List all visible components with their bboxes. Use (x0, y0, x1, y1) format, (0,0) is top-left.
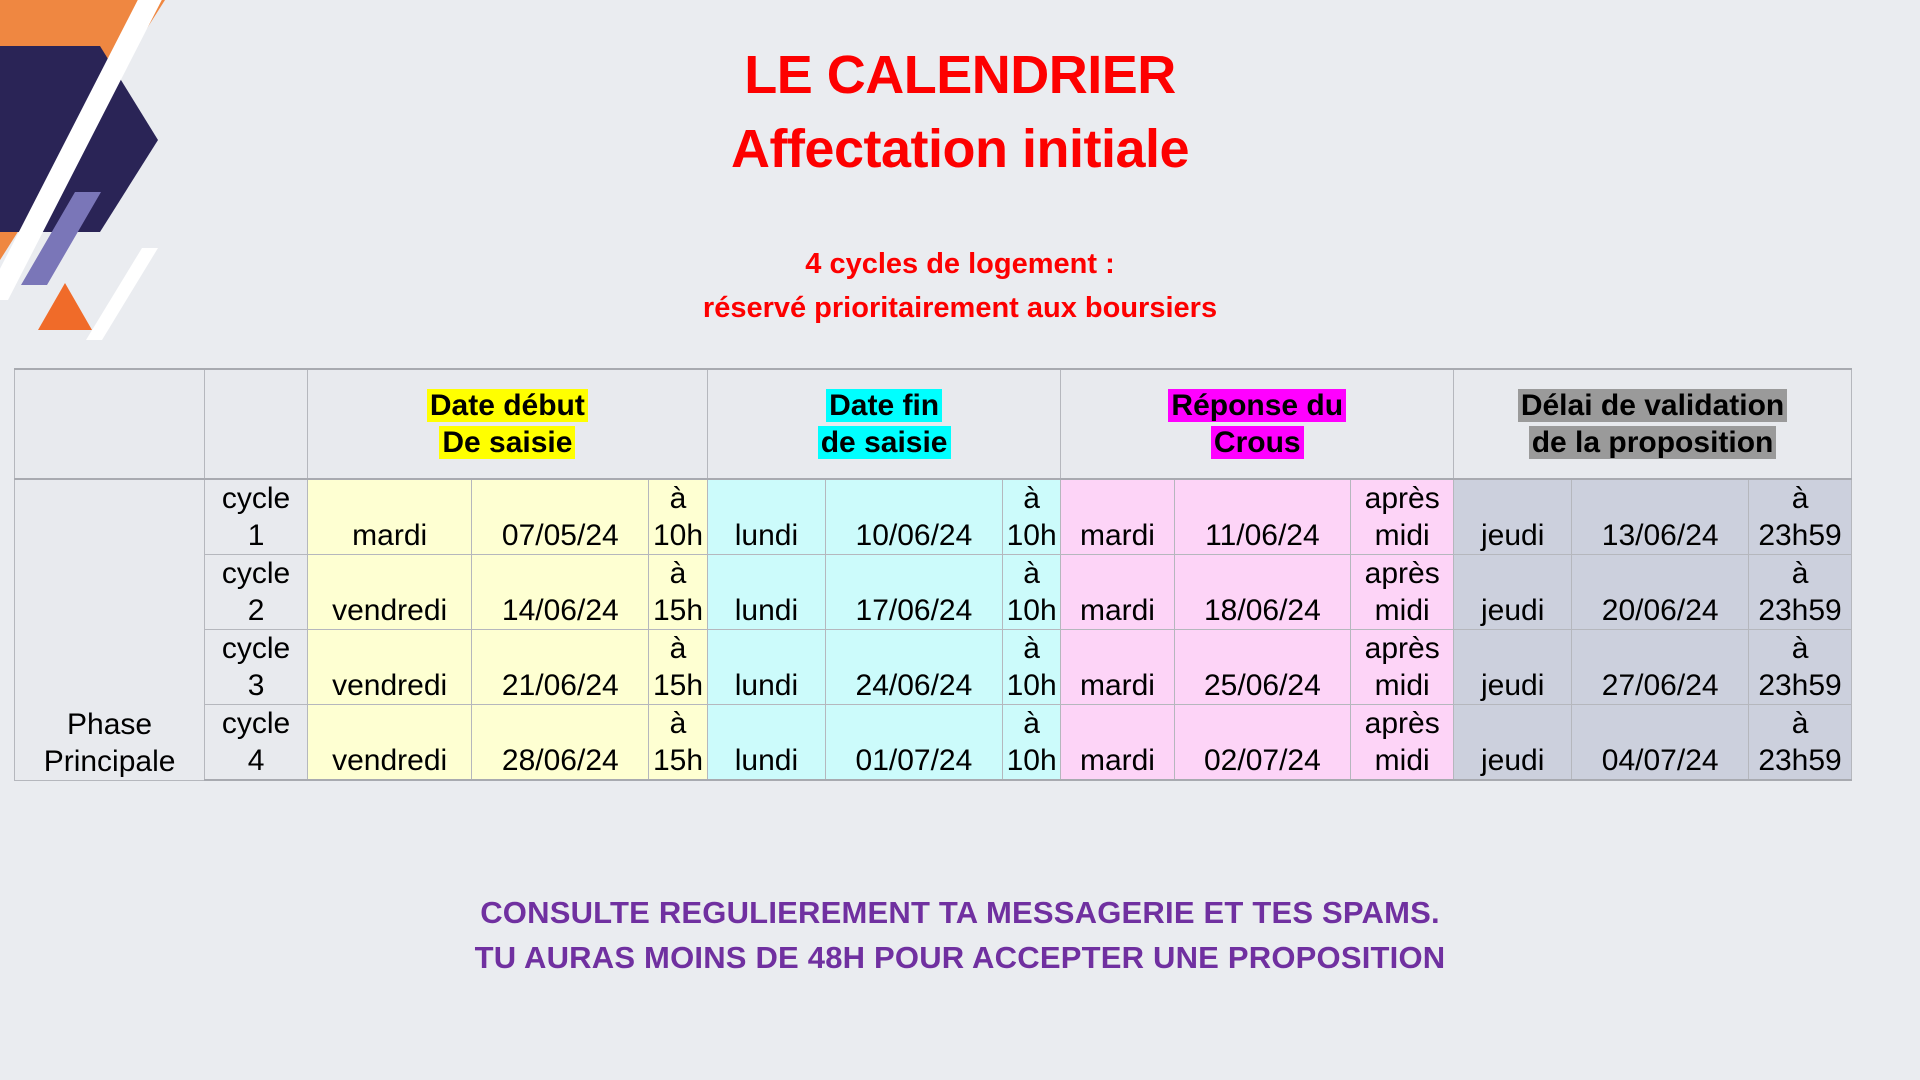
debut-date-3: 21/06/24 (472, 630, 649, 705)
header-cell-date-fin: Date fin de saisie (707, 369, 1061, 479)
fin-time-prefix-2: à (1003, 555, 1061, 592)
table-header-row: Date début De saisie Date fin de saisie … (15, 369, 1852, 479)
title-line-2: Affectation initiale (0, 112, 1920, 186)
delai-day-4: jeudi (1454, 705, 1572, 781)
header-date-fin-line1: Date fin (826, 389, 942, 422)
fin-date-1: 10/06/24 (826, 479, 1003, 555)
debut-time-prefix-3: à (649, 630, 707, 667)
phase-label-line1: Phase (15, 706, 204, 743)
fin-time-prefix-3: à (1003, 630, 1061, 667)
cycle-word-3: cycle (205, 630, 307, 667)
fin-time-value-4: 10h (1003, 742, 1061, 779)
crous-date-3: 25/06/24 (1174, 630, 1351, 705)
debut-time-prefix-1: à (649, 480, 707, 517)
header-cell-blank-1 (15, 369, 205, 479)
cycle-label-1: cycle 1 (205, 479, 308, 555)
header-date-debut-line2: De saisie (439, 426, 575, 459)
header-delai-line2: de la proposition (1529, 426, 1777, 459)
debut-time-value-3: 15h (649, 667, 707, 704)
debut-day-3: vendredi (307, 630, 471, 705)
header-cell-delai-validation: Délai de validation de la proposition (1454, 369, 1852, 479)
crous-time-value-1: midi (1351, 517, 1453, 554)
header-reponse-crous-line1: Réponse du (1168, 389, 1346, 422)
delai-date-2: 20/06/24 (1572, 555, 1749, 630)
crous-date-4: 02/07/24 (1174, 705, 1351, 781)
table-row: cycle 3 vendredi 21/06/24 à 15h lundi 24… (15, 630, 1852, 705)
cycle-word-4: cycle (205, 705, 307, 742)
delai-time-4: à 23h59 (1749, 705, 1852, 781)
fin-time-prefix-4: à (1003, 705, 1061, 742)
delai-time-value-4: 23h59 (1749, 742, 1851, 779)
cycle-number-3: 3 (205, 667, 307, 704)
delai-time-value-3: 23h59 (1749, 667, 1851, 704)
crous-time-value-3: midi (1351, 667, 1453, 704)
cycle-word-1: cycle (205, 480, 307, 517)
debut-day-2: vendredi (307, 555, 471, 630)
table-row: Phase Principale cycle 1 mardi 07/05/24 … (15, 479, 1852, 555)
crous-day-3: mardi (1061, 630, 1174, 705)
debut-date-4: 28/06/24 (472, 705, 649, 781)
header-reponse-crous-line2: Crous (1211, 426, 1304, 459)
delai-time-value-1: 23h59 (1749, 517, 1851, 554)
fin-time-prefix-1: à (1003, 480, 1061, 517)
slide-title: LE CALENDRIER Affectation initiale (0, 38, 1920, 186)
fin-date-4: 01/07/24 (826, 705, 1003, 781)
header-date-fin-line2: de saisie (818, 426, 951, 459)
crous-time-3: après midi (1351, 630, 1454, 705)
delai-time-prefix-1: à (1749, 480, 1851, 517)
subtitle-line-2: réservé prioritairement aux boursiers (0, 286, 1920, 330)
delai-time-3: à 23h59 (1749, 630, 1852, 705)
crous-day-1: mardi (1061, 479, 1174, 555)
cycle-label-2: cycle 2 (205, 555, 308, 630)
crous-date-1: 11/06/24 (1174, 479, 1351, 555)
debut-time-2: à 15h (649, 555, 708, 630)
calendar-table: Date début De saisie Date fin de saisie … (14, 368, 1852, 781)
fin-time-value-1: 10h (1003, 517, 1061, 554)
fin-time-value-2: 10h (1003, 592, 1061, 629)
crous-day-2: mardi (1061, 555, 1174, 630)
delai-day-1: jeudi (1454, 479, 1572, 555)
debut-time-value-4: 15h (649, 742, 707, 779)
crous-time-prefix-4: après (1351, 705, 1453, 742)
fin-time-2: à 10h (1002, 555, 1061, 630)
header-cell-date-debut: Date début De saisie (307, 369, 707, 479)
slide-footer-note: CONSULTE REGULIEREMENT TA MESSAGERIE ET … (0, 890, 1920, 980)
crous-time-4: après midi (1351, 705, 1454, 781)
delai-date-3: 27/06/24 (1572, 630, 1749, 705)
fin-day-4: lundi (707, 705, 825, 781)
debut-time-1: à 10h (649, 479, 708, 555)
footer-line-1: CONSULTE REGULIEREMENT TA MESSAGERIE ET … (0, 890, 1920, 935)
fin-day-1: lundi (707, 479, 825, 555)
debut-day-1: mardi (307, 479, 471, 555)
footer-line-2: TU AURAS MOINS DE 48H POUR ACCEPTER UNE … (0, 935, 1920, 980)
fin-time-1: à 10h (1002, 479, 1061, 555)
debut-date-2: 14/06/24 (472, 555, 649, 630)
fin-time-value-3: 10h (1003, 667, 1061, 704)
cycle-label-3: cycle 3 (205, 630, 308, 705)
cycle-word-2: cycle (205, 555, 307, 592)
subtitle-line-1: 4 cycles de logement : (0, 242, 1920, 286)
crous-day-4: mardi (1061, 705, 1174, 781)
phase-principale-cell: Phase Principale (15, 479, 205, 780)
cycle-label-4: cycle 4 (205, 705, 308, 781)
header-date-debut-line1: Date début (427, 389, 588, 422)
fin-date-2: 17/06/24 (826, 555, 1003, 630)
table-row: cycle 4 vendredi 28/06/24 à 15h lundi 01… (15, 705, 1852, 781)
table-row: cycle 2 vendredi 14/06/24 à 15h lundi 17… (15, 555, 1852, 630)
phase-label-line2: Principale (15, 743, 204, 780)
crous-date-2: 18/06/24 (1174, 555, 1351, 630)
fin-time-4: à 10h (1002, 705, 1061, 781)
delai-time-value-2: 23h59 (1749, 592, 1851, 629)
cycle-number-2: 2 (205, 592, 307, 629)
debut-date-1: 07/05/24 (472, 479, 649, 555)
delai-day-3: jeudi (1454, 630, 1572, 705)
crous-time-value-2: midi (1351, 592, 1453, 629)
crous-time-2: après midi (1351, 555, 1454, 630)
debut-time-value-2: 15h (649, 592, 707, 629)
delai-time-2: à 23h59 (1749, 555, 1852, 630)
delai-date-1: 13/06/24 (1572, 479, 1749, 555)
title-line-1: LE CALENDRIER (0, 38, 1920, 112)
header-delai-line1: Délai de validation (1518, 389, 1787, 422)
cycle-number-4: 4 (205, 742, 307, 779)
delai-date-4: 04/07/24 (1572, 705, 1749, 781)
fin-day-2: lundi (707, 555, 825, 630)
debut-time-4: à 15h (649, 705, 708, 781)
delai-time-prefix-2: à (1749, 555, 1851, 592)
crous-time-prefix-1: après (1351, 480, 1453, 517)
header-cell-reponse-crous: Réponse du Crous (1061, 369, 1454, 479)
debut-time-3: à 15h (649, 630, 708, 705)
delai-time-1: à 23h59 (1749, 479, 1852, 555)
debut-time-value-1: 10h (649, 517, 707, 554)
crous-time-prefix-2: après (1351, 555, 1453, 592)
fin-time-3: à 10h (1002, 630, 1061, 705)
debut-day-4: vendredi (307, 705, 471, 781)
cycle-number-1: 1 (205, 517, 307, 554)
calendar-table-wrapper: Date début De saisie Date fin de saisie … (14, 368, 1852, 781)
slide-subtitle: 4 cycles de logement : réservé prioritai… (0, 242, 1920, 330)
delai-time-prefix-4: à (1749, 705, 1851, 742)
delai-day-2: jeudi (1454, 555, 1572, 630)
crous-time-1: après midi (1351, 479, 1454, 555)
debut-time-prefix-4: à (649, 705, 707, 742)
crous-time-value-4: midi (1351, 742, 1453, 779)
fin-date-3: 24/06/24 (826, 630, 1003, 705)
header-cell-blank-2 (205, 369, 308, 479)
fin-day-3: lundi (707, 630, 825, 705)
delai-time-prefix-3: à (1749, 630, 1851, 667)
crous-time-prefix-3: après (1351, 630, 1453, 667)
debut-time-prefix-2: à (649, 555, 707, 592)
